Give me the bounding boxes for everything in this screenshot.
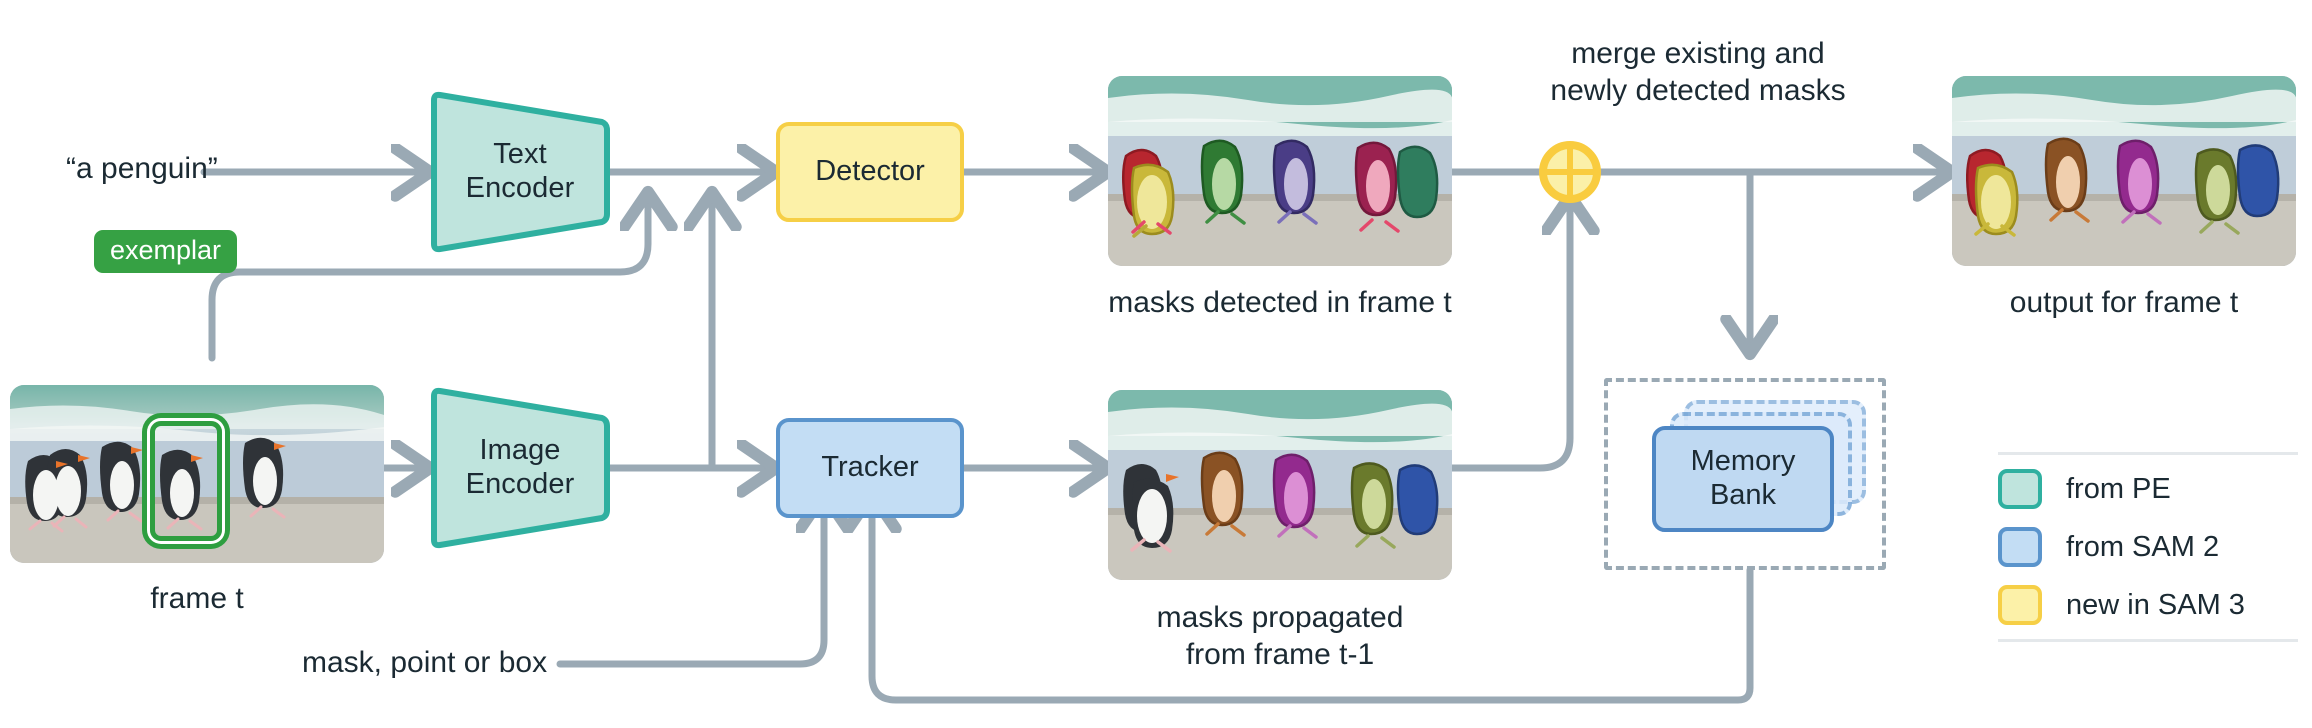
legend-divider-top (1998, 452, 2298, 455)
tracker-label: Tracker (821, 451, 918, 485)
legend-divider-bottom (1998, 639, 2298, 642)
masks-propagated-image (1108, 390, 1452, 580)
memory-bank-module[interactable]: Memory Bank (1652, 426, 1834, 532)
image-encoder-label-wrap: Image Encoder (430, 384, 610, 552)
diagram-canvas: “a penguin” Text Encoder Detector Image … (0, 0, 2312, 728)
tracker-module[interactable]: Tracker (776, 418, 964, 518)
masks-propagated-caption-line1: masks propagated (1157, 600, 1404, 637)
detector-label: Detector (815, 155, 925, 189)
merge-node[interactable] (1538, 140, 1602, 204)
legend-label-sam3: new in SAM 3 (2066, 589, 2245, 622)
merge-caption-line1: merge existing and (1550, 36, 1845, 73)
legend-item-sam2: from SAM 2 (1998, 523, 2298, 571)
output-frame-photo (1952, 76, 2296, 266)
image-encoder-line2: Encoder (466, 468, 575, 502)
legend-swatch-sam3-icon (1998, 585, 2042, 625)
detector-module[interactable]: Detector (776, 122, 964, 222)
exemplar-bounding-box (150, 421, 222, 541)
legend-item-pe: from PE (1998, 465, 2298, 513)
masks-detected-caption: masks detected in frame t (1108, 286, 1451, 320)
text-encoder-line2: Encoder (466, 172, 575, 206)
frame-t-caption: frame t (150, 582, 243, 616)
masks-detected-photo (1108, 76, 1452, 266)
memory-bank-line1: Memory (1691, 445, 1796, 479)
masks-detected-image (1108, 76, 1452, 266)
legend-swatch-pe-icon (1998, 469, 2042, 509)
text-encoder-line1: Text (493, 138, 547, 172)
legend-label-pe: from PE (2066, 473, 2171, 506)
text-encoder-label-wrap: Text Encoder (430, 88, 610, 256)
text-prompt-label: “a penguin” (66, 152, 218, 186)
output-frame-caption: output for frame t (2010, 286, 2238, 320)
legend-item-sam3: new in SAM 3 (1998, 581, 2298, 629)
legend-label-sam2: from SAM 2 (2066, 531, 2219, 564)
text-encoder-module[interactable]: Text Encoder (430, 88, 610, 256)
masks-propagated-photo (1108, 390, 1452, 580)
merge-caption: merge existing and newly detected masks (1550, 36, 1845, 109)
output-frame-image (1952, 76, 2296, 266)
frame-t-image (10, 385, 384, 563)
masks-propagated-caption-line2: from frame t-1 (1157, 637, 1404, 674)
exemplar-badge[interactable]: exemplar (94, 230, 237, 273)
merge-caption-line2: newly detected masks (1550, 73, 1845, 110)
visual-prompt-label: mask, point or box (302, 646, 547, 680)
memory-bank-line2: Bank (1710, 479, 1776, 513)
image-encoder-line1: Image (479, 434, 560, 468)
image-encoder-module[interactable]: Image Encoder (430, 384, 610, 552)
masks-propagated-caption: masks propagated from frame t-1 (1157, 600, 1404, 673)
wire-propagated-to-merge (1452, 200, 1570, 468)
circle-plus-icon (1538, 140, 1602, 204)
legend-swatch-sam2-icon (1998, 527, 2042, 567)
legend: from PE from SAM 2 new in SAM 3 (1998, 452, 2298, 642)
